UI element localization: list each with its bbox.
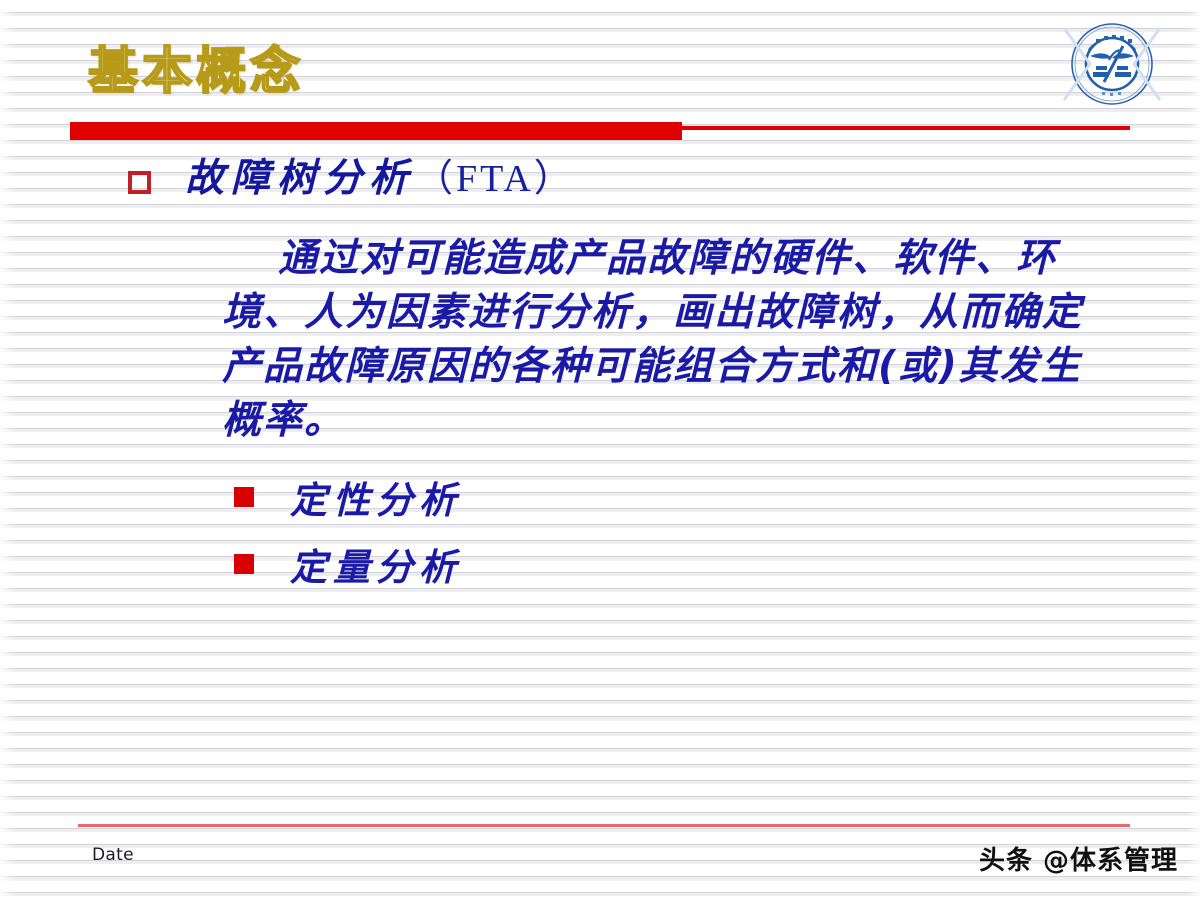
footer-date-placeholder: Date	[92, 845, 134, 865]
heading-paren-open: （	[415, 158, 456, 200]
body-paragraph: 通过对可能造成产品故障的硬件、软件、环境、人为因素进行分析，画出故障树，从而确定…	[222, 232, 1102, 448]
list-item-label: 定量分析	[290, 537, 462, 591]
list-item-label: 定性分析	[290, 470, 462, 524]
title-rule-thick	[70, 122, 682, 140]
footer-rule	[78, 824, 1130, 827]
solid-square-bullet-icon	[234, 487, 254, 507]
hollow-square-bullet-icon	[128, 171, 151, 194]
slide-title: 基本概念	[88, 46, 304, 96]
heading-label: 故障树分析（FTA）	[185, 158, 575, 201]
list-item: 定性分析	[234, 470, 462, 524]
title-rule-thin	[682, 126, 1130, 130]
solid-square-bullet-icon	[234, 554, 254, 574]
watermark-label: 头条 @体系管理	[979, 840, 1178, 877]
heading-paren-close: ）	[534, 158, 575, 200]
heading-abbreviation: FTA	[456, 158, 534, 200]
list-item: 定量分析	[234, 537, 462, 591]
slide-content: 基本概念	[0, 0, 1200, 900]
heading-row: 故障树分析（FTA）	[128, 158, 575, 201]
heading-title-text: 故障树分析	[185, 156, 415, 201]
university-seal-logo	[1060, 12, 1164, 116]
slide-canvas: 基本概念	[0, 0, 1200, 900]
